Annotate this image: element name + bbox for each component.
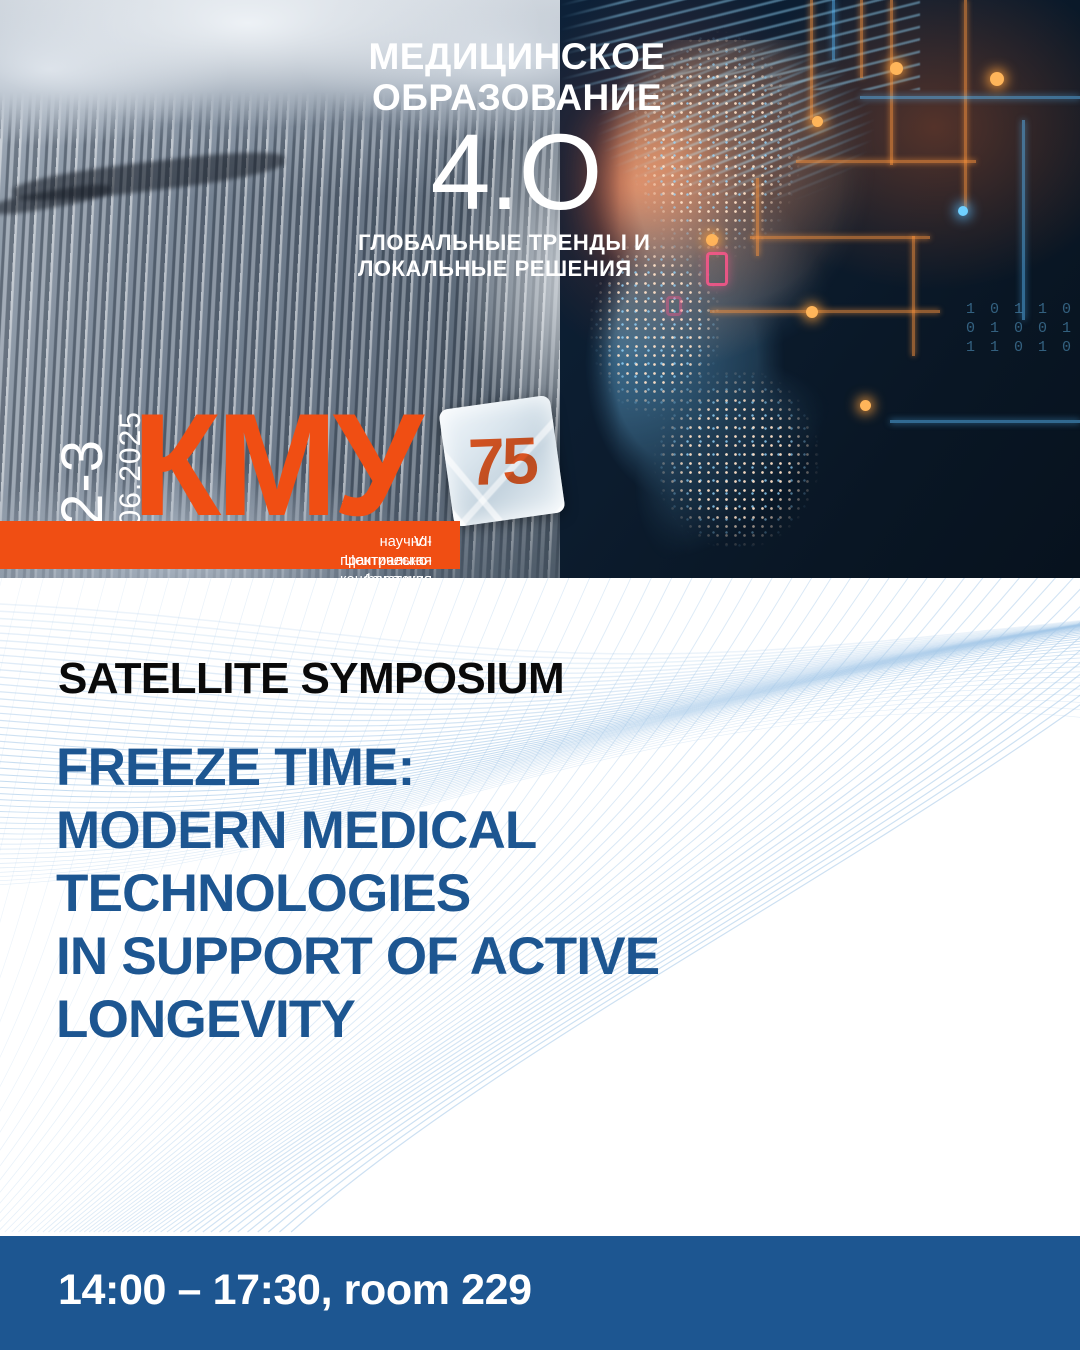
binary-overlay: 1 0 1 1 0 0 1 0 0 1 1 1 0 1 0: [966, 300, 1074, 357]
hero-headline-line1: МЕДИЦИНСКОЕ: [352, 36, 682, 77]
circuit-node: [812, 116, 823, 127]
eyebrow-label: SATELLITE SYMPOSIUM: [58, 654, 564, 704]
circuit-trace: [890, 0, 893, 165]
kmu-logo-lockup: 2-3 06.2025 КМУ 75 VII Центрально-Азиатс…: [0, 396, 620, 578]
circuit-trace: [710, 310, 940, 313]
page-title-line2: MODERN MEDICAL: [56, 799, 659, 862]
content-section: SATELLITE SYMPOSIUM FREEZE TIME: MODERN …: [0, 578, 1080, 1236]
circuit-trace: [796, 160, 976, 163]
circuit-node: [706, 234, 718, 246]
kmu-acronym: КМУ: [132, 392, 419, 538]
page-title-line3: TECHNOLOGIES: [56, 862, 659, 925]
circuit-node: [990, 72, 1004, 86]
circuit-trace: [890, 420, 1080, 423]
circuit-trace: [810, 0, 813, 120]
pink-rect-icon: [706, 252, 728, 286]
page-title-line1: FREEZE TIME:: [56, 736, 659, 799]
hero-subtitle-line1: ГЛОБАЛЬНЫЕ ТРЕНДЫ И: [358, 230, 682, 256]
conference-name-line2: научно-практическая конференция: [340, 533, 432, 578]
circuit-trace: [912, 236, 915, 356]
pink-rect-icon: [666, 296, 682, 316]
circuit-node: [958, 206, 968, 216]
circuit-node: [806, 306, 818, 318]
circuit-trace: [832, 0, 835, 60]
ice-cube-icon: 75: [438, 395, 565, 527]
schedule-text: 14:00 – 17:30, room 229: [58, 1266, 532, 1315]
circuit-node: [860, 400, 871, 411]
glacier-ridge-shadow-2: [0, 180, 112, 219]
hero-headline: МЕДИЦИНСКОЕ ОБРАЗОВАНИЕ 4.O ГЛОБАЛЬНЫЕ Т…: [352, 36, 682, 282]
page-title: FREEZE TIME: MODERN MEDICAL TECHNOLOGIES…: [56, 736, 659, 1051]
circuit-trace: [860, 0, 863, 78]
page-title-line5: LONGEVITY: [56, 988, 659, 1051]
circuit-node: [890, 62, 903, 75]
conference-banner: VII Центрально-Азиатская международнаяна…: [0, 521, 460, 569]
circuit-trace: [860, 96, 1080, 99]
hero-banner: 1 0 1 1 0 0 1 0 0 1 1 1 0 1 0 МЕДИЦИНСКО…: [0, 0, 1080, 578]
circuit-trace: [756, 178, 759, 256]
event-date-days: 2-3: [54, 439, 112, 526]
hero-subtitle-line2: ЛОКАЛЬНЫЕ РЕШЕНИЯ: [358, 256, 682, 282]
poster-root: 1 0 1 1 0 0 1 0 0 1 1 1 0 1 0 МЕДИЦИНСКО…: [0, 0, 1080, 1350]
schedule-bar: 14:00 – 17:30, room 229: [0, 1236, 1080, 1350]
circuit-trace: [1022, 120, 1025, 320]
page-title-line4: IN SUPPORT OF ACTIVE: [56, 925, 659, 988]
circuit-trace: [964, 0, 967, 210]
hero-version-number: 4.O: [350, 124, 682, 220]
anniversary-number: 75: [444, 400, 560, 522]
circuit-trace: [750, 236, 930, 239]
glacier-ridge-shadow: [12, 145, 286, 207]
